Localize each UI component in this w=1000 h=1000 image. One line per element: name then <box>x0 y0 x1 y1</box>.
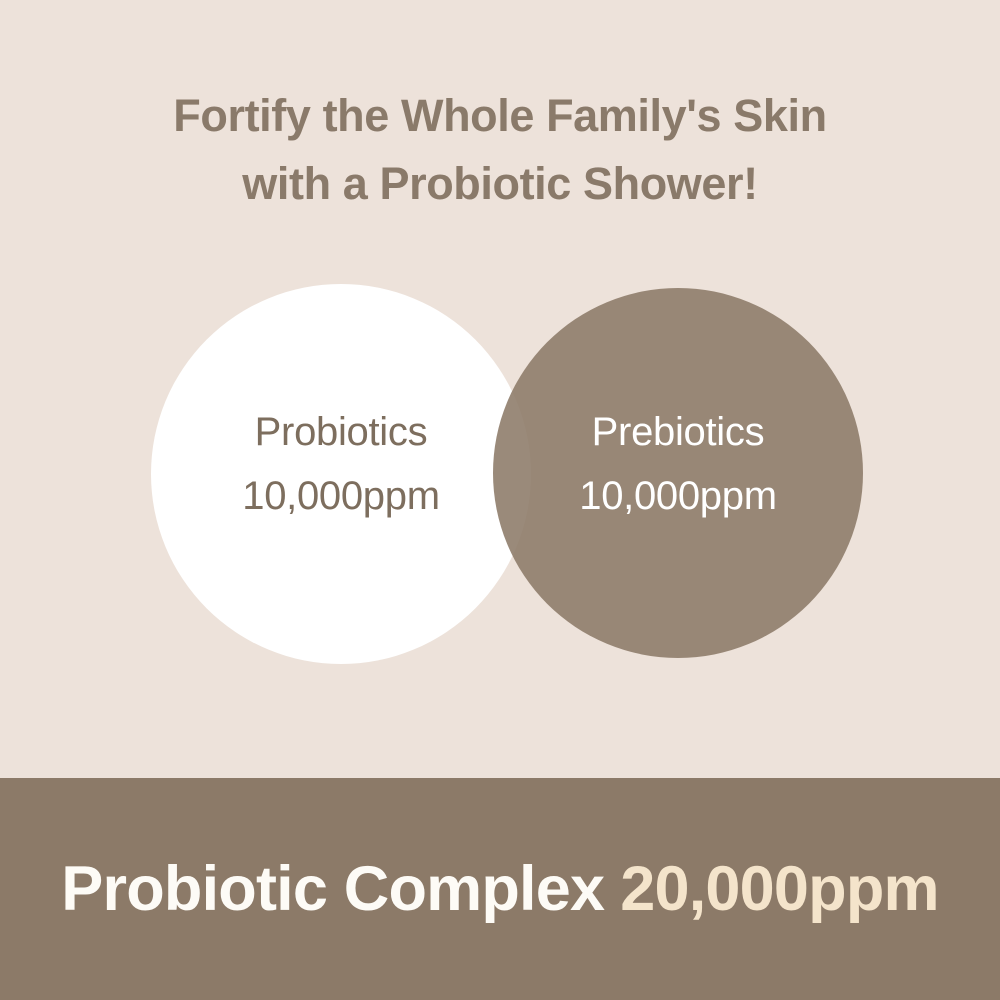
summary-banner-text: Probiotic Complex20,000ppm <box>61 858 938 921</box>
poster-canvas: Fortify the Whole Family's Skin with a P… <box>0 0 1000 1000</box>
venn-label-probiotics-amount: 10,000ppm <box>151 464 531 528</box>
venn-diagram: Probiotics 10,000ppm Prebiotics 10,000pp… <box>0 0 1000 778</box>
venn-label-prebiotics-amount: 10,000ppm <box>493 464 863 528</box>
summary-banner-label: Probiotic Complex <box>61 854 604 924</box>
venn-label-prebiotics: Prebiotics 10,000ppm <box>493 400 863 528</box>
venn-label-probiotics-name: Probiotics <box>151 400 531 464</box>
venn-label-prebiotics-name: Prebiotics <box>493 400 863 464</box>
summary-banner: Probiotic Complex20,000ppm <box>0 778 1000 1000</box>
venn-label-probiotics: Probiotics 10,000ppm <box>151 400 531 528</box>
summary-banner-value: 20,000ppm <box>620 854 938 924</box>
